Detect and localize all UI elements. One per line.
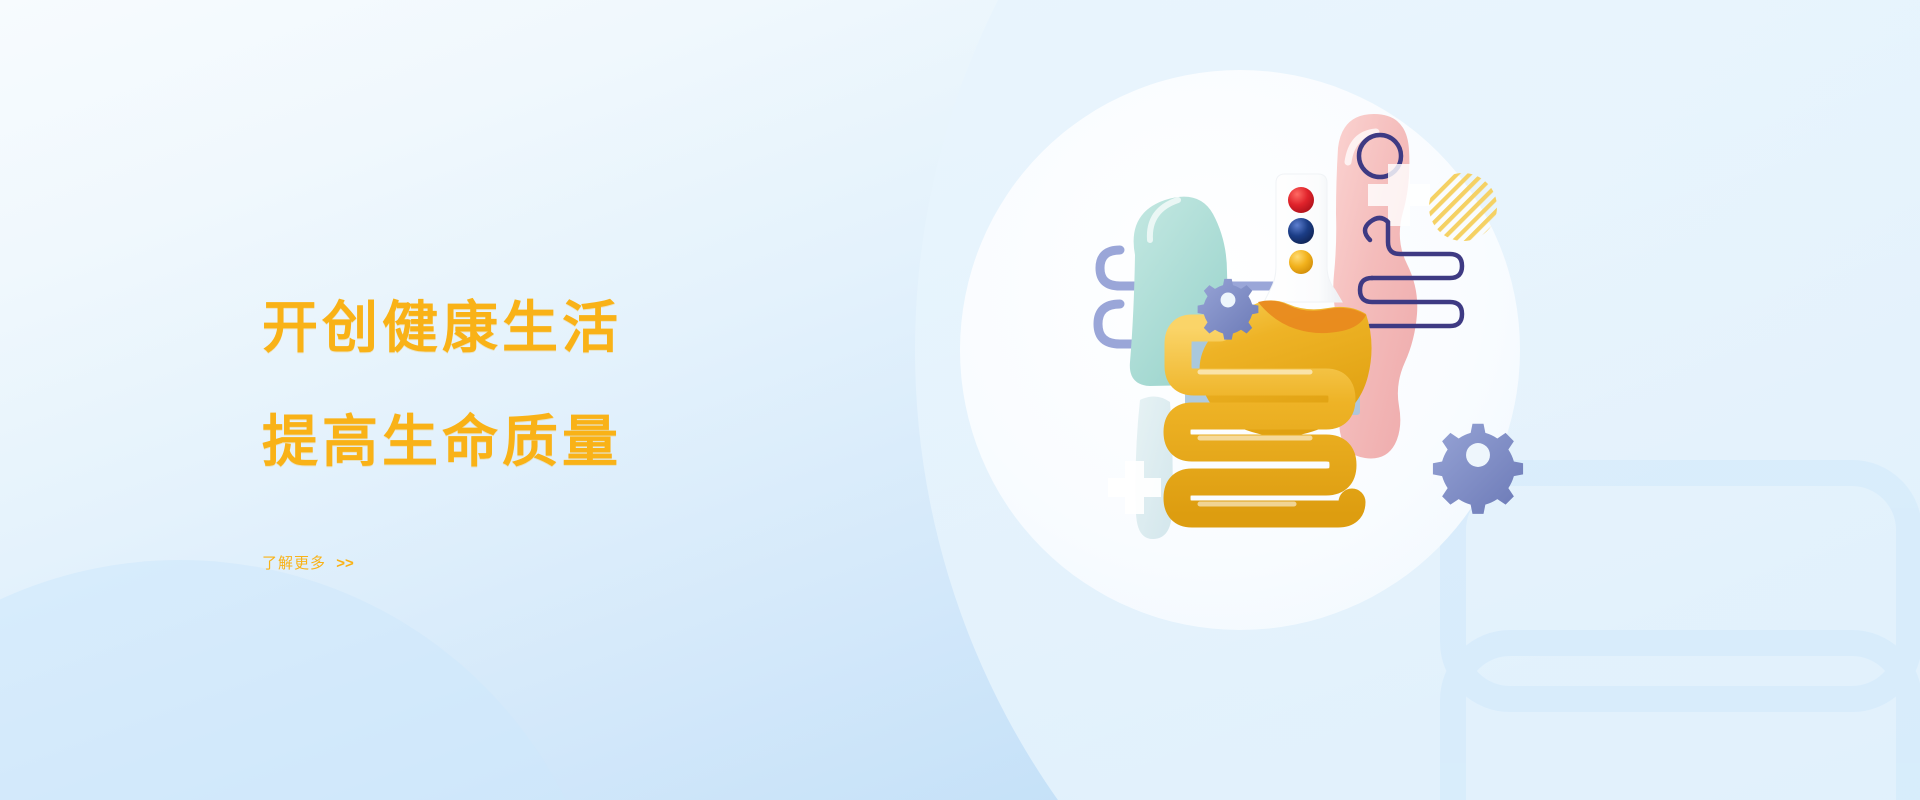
page-title-line2: 提高生命质量 [262,414,882,470]
striped-circle [1429,173,1497,241]
gear-large-icon [1433,424,1523,514]
dot-navy [1288,218,1314,244]
dot-red [1288,187,1314,213]
hero-copy: 开创健康生活 提高生命质量 了解更多 >> [262,300,882,573]
hero-banner: 开创健康生活 提高生命质量 了解更多 >> [0,0,1920,800]
learn-more-label: 了解更多 [262,555,326,572]
health-illustration [1080,90,1560,610]
page-title-line1: 开创健康生活 [262,300,882,356]
learn-more-link[interactable]: 了解更多 >> [262,552,354,573]
dot-amber [1289,250,1313,274]
gear-small-icon [1198,279,1259,340]
chevron-right-icon: >> [336,555,354,572]
watermark-loop-bottom [1440,630,1920,800]
